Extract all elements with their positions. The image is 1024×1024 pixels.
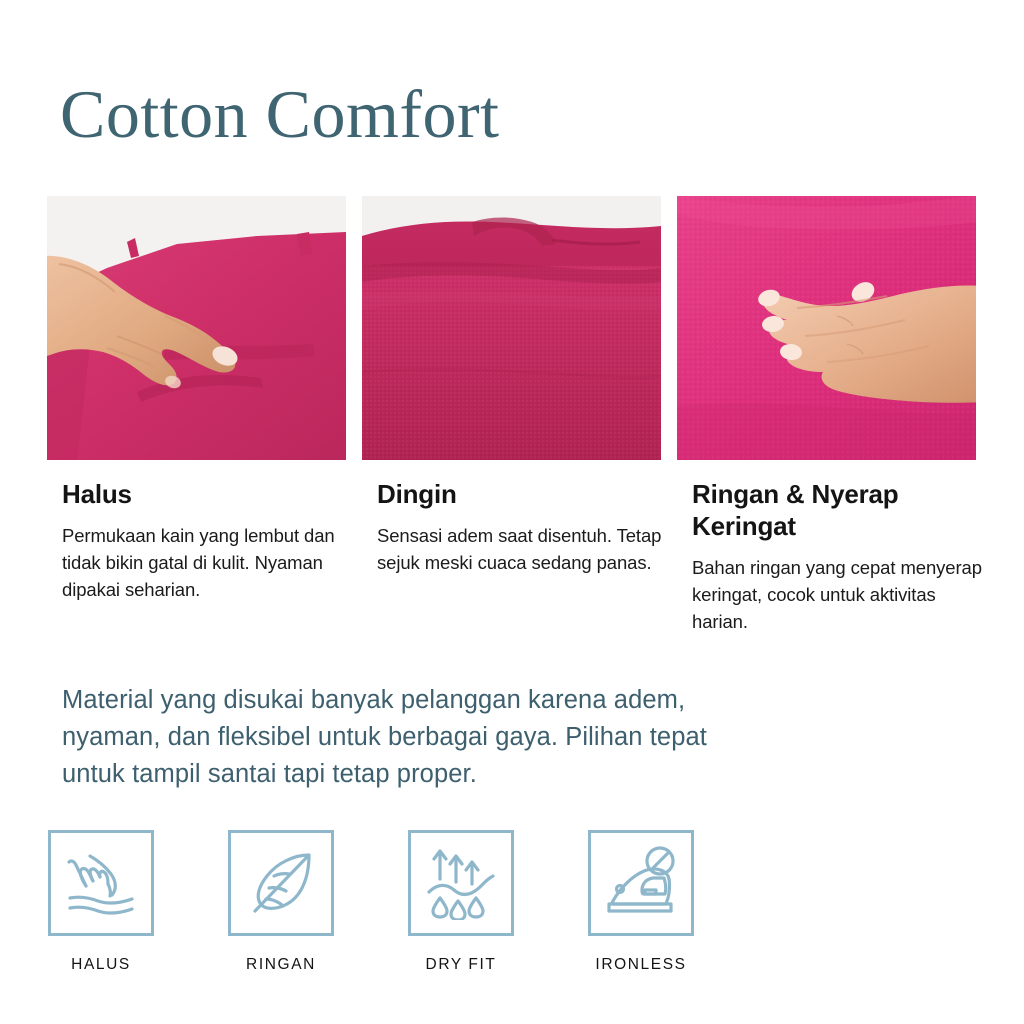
feature-body: Bahan ringan yang cepat menyerap keringa… xyxy=(692,554,992,635)
feature-ringan-nyerap-keringat: Ringan & Nyerap Keringat Bahan ringan ya… xyxy=(692,478,992,635)
feature-badges: HALUS RINGAN xyxy=(48,830,768,974)
feature-heading: Ringan & Nyerap Keringat xyxy=(692,478,992,542)
feature-dingin: Dingin Sensasi adem saat disentuh. Tetap… xyxy=(377,478,692,635)
badge-label: DRY FIT xyxy=(408,956,514,974)
photo-gallery xyxy=(47,196,977,460)
badge-frame xyxy=(588,830,694,936)
cotton-comfort-infographic: Cotton Comfort xyxy=(0,0,1024,1024)
summary-line-2: nyaman, dan fleksibel untuk berbagai gay… xyxy=(62,719,970,756)
badge-label: RINGAN xyxy=(228,956,334,974)
hand-touching-fabric-icon xyxy=(64,846,138,920)
feature-body: Sensasi adem saat disentuh. Tetap sejuk … xyxy=(377,522,670,576)
badge-label: IRONLESS xyxy=(588,956,694,974)
summary-line-3: untuk tampil santai tapi tetap proper. xyxy=(62,756,970,793)
badge-frame xyxy=(408,830,514,936)
badge-frame xyxy=(48,830,154,936)
badge-halus: HALUS xyxy=(48,830,228,974)
badge-ironless: IRONLESS xyxy=(588,830,768,974)
summary-paragraph: Material yang disukai banyak pelanggan k… xyxy=(62,682,970,793)
summary-line-1: Material yang disukai banyak pelanggan k… xyxy=(62,682,970,719)
fabric-texture-closeup-photo xyxy=(362,196,661,460)
badge-label: HALUS xyxy=(48,956,154,974)
page-title: Cotton Comfort xyxy=(60,72,500,156)
feature-heading: Halus xyxy=(62,478,355,510)
feature-columns: Halus Permukaan kain yang lembut dan tid… xyxy=(62,478,992,635)
feature-heading: Dingin xyxy=(377,478,670,510)
feature-halus: Halus Permukaan kain yang lembut dan tid… xyxy=(62,478,377,635)
no-iron-icon xyxy=(604,846,678,920)
badge-dry-fit: DRY FIT xyxy=(408,830,588,974)
moisture-wicking-icon xyxy=(424,846,498,920)
hand-lifting-fabric-photo xyxy=(47,196,346,460)
badge-ringan: RINGAN xyxy=(228,830,408,974)
feather-icon xyxy=(244,846,318,920)
badge-frame xyxy=(228,830,334,936)
hand-resting-on-fabric-photo xyxy=(677,196,976,460)
feature-body: Permukaan kain yang lembut dan tidak bik… xyxy=(62,522,355,603)
